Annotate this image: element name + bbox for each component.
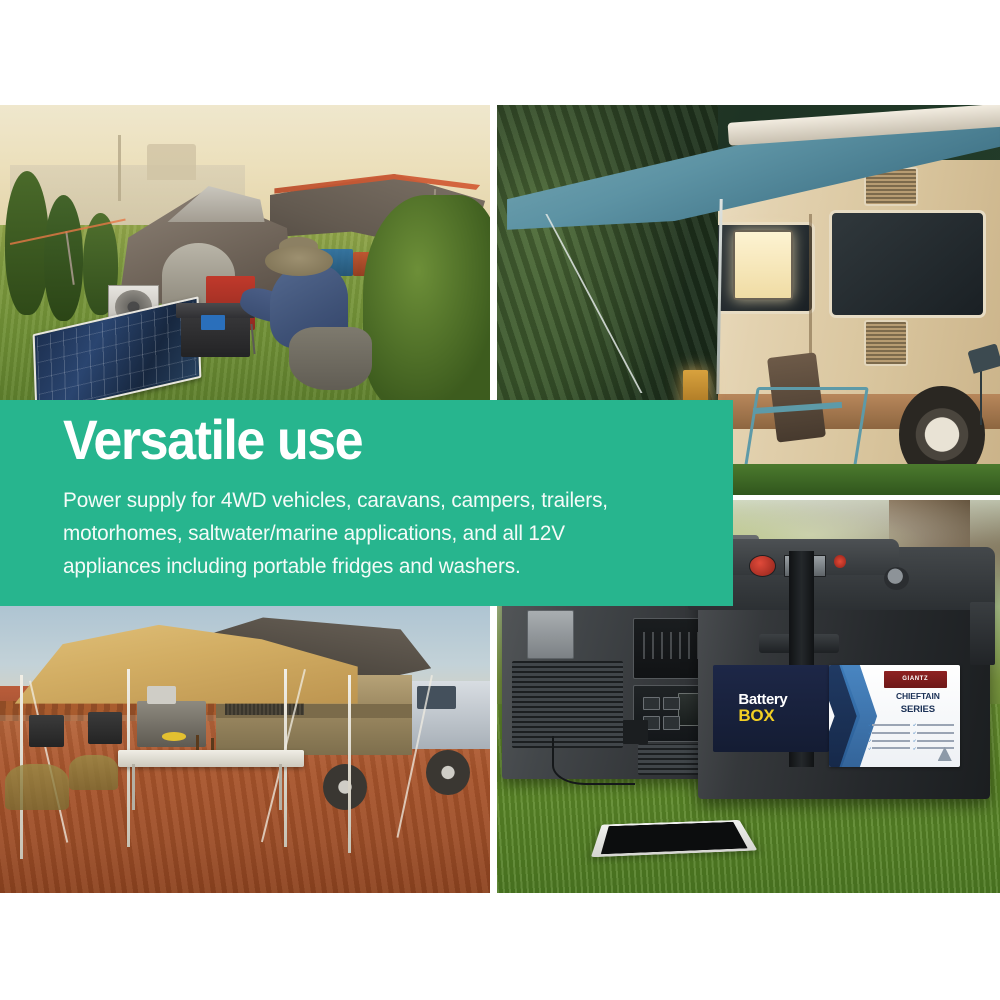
bowl bbox=[162, 732, 187, 741]
battery-box-label: Battery BOX bbox=[713, 665, 829, 751]
table-leg bbox=[279, 764, 282, 810]
grass-clump bbox=[5, 764, 69, 810]
folding-table bbox=[118, 750, 304, 767]
photo-camping bbox=[0, 105, 490, 405]
awning-pole bbox=[348, 675, 351, 853]
fridge-button bbox=[643, 697, 660, 711]
tablet-device bbox=[591, 819, 757, 856]
power-cord bbox=[552, 736, 634, 785]
feature-item bbox=[913, 737, 955, 744]
camp-chair bbox=[29, 715, 63, 747]
tree-icon bbox=[44, 195, 83, 321]
check-icon bbox=[913, 747, 916, 750]
battery-box-side-vent bbox=[970, 602, 995, 665]
fridge-button bbox=[663, 716, 680, 730]
table-leg bbox=[132, 764, 135, 810]
folding-chair bbox=[749, 355, 855, 480]
battery-box-label-line2: BOX bbox=[738, 707, 829, 725]
bush bbox=[363, 195, 490, 405]
giantz-chieftain-label: GIANTZ CHIEFTAIN SERIES bbox=[829, 665, 960, 767]
series-line1: CHIEFTAIN bbox=[881, 691, 954, 701]
check-icon bbox=[913, 723, 916, 726]
check-icon bbox=[868, 747, 871, 750]
check-icon bbox=[868, 739, 871, 742]
check-icon bbox=[868, 731, 871, 734]
fridge-vent-grille bbox=[512, 661, 623, 747]
battery-box-label-line1: Battery bbox=[738, 692, 829, 707]
fridge-latch bbox=[527, 610, 574, 659]
callout-body: Power supply for 4WD vehicles, caravans,… bbox=[63, 484, 688, 583]
caravan-vent bbox=[864, 320, 908, 367]
background-tower bbox=[118, 135, 121, 201]
feature-item bbox=[913, 729, 955, 736]
grass-clump bbox=[69, 755, 118, 789]
callout-panel: Versatile use Power supply for 4WD vehic… bbox=[0, 400, 733, 606]
photo-outback bbox=[0, 606, 490, 893]
vehicle-window bbox=[417, 686, 456, 709]
check-icon bbox=[868, 723, 871, 726]
giantz-brand-badge: GIANTZ bbox=[884, 671, 947, 687]
callout-body-line-1: Power supply for 4WD vehicles, caravans,… bbox=[63, 484, 688, 517]
callout-body-line-3: appliances including portable fridges an… bbox=[63, 550, 688, 583]
caravan-window bbox=[829, 210, 986, 317]
fridge-button bbox=[663, 697, 680, 711]
cooking-pot bbox=[147, 686, 176, 703]
feature-item bbox=[868, 745, 910, 752]
person-legs bbox=[289, 327, 372, 390]
feature-item bbox=[913, 721, 955, 728]
giantz-brand-text: GIANTZ bbox=[902, 676, 928, 682]
callout-body-line-2: motorhomes, saltwater/marine application… bbox=[63, 517, 688, 550]
camp-chair bbox=[88, 712, 122, 744]
check-icon bbox=[913, 739, 916, 742]
feature-item bbox=[868, 721, 910, 728]
power-case-device bbox=[201, 315, 226, 330]
background-tank bbox=[147, 144, 196, 180]
banner-canvas: Battery BOX GIANTZ CHIEFTAIN SERIES bbox=[0, 0, 1000, 1000]
feature-list bbox=[868, 721, 954, 752]
feature-item bbox=[913, 745, 955, 752]
feature-item bbox=[868, 737, 910, 744]
lit-window bbox=[733, 230, 792, 300]
power-knob-icon bbox=[749, 555, 776, 577]
feature-item bbox=[868, 729, 910, 736]
sun-hat bbox=[265, 246, 334, 276]
check-icon bbox=[913, 731, 916, 734]
series-line2: SERIES bbox=[881, 704, 954, 715]
trailer-wheel bbox=[323, 764, 367, 810]
page-title: Versatile use bbox=[63, 409, 362, 471]
